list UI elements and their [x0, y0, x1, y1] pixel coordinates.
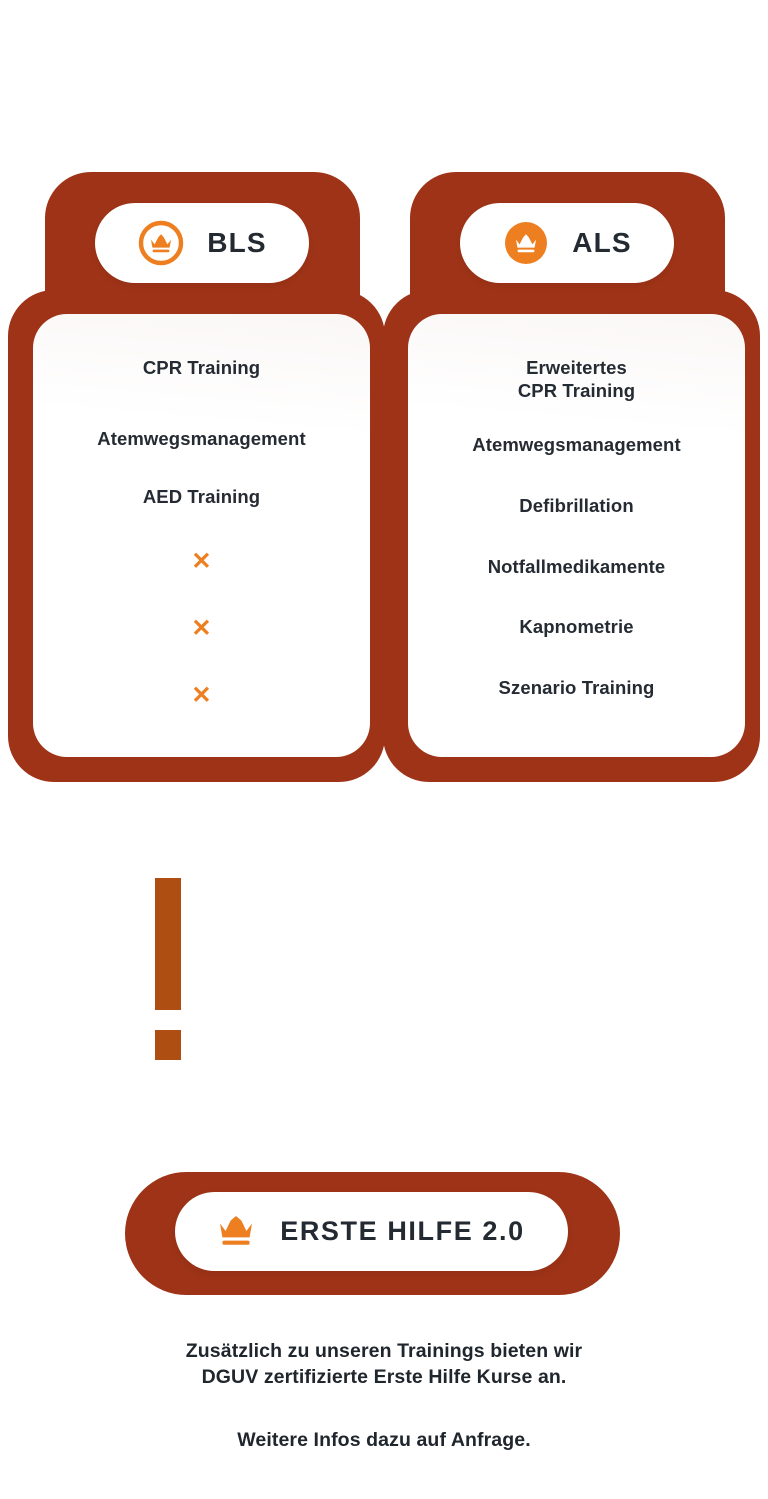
plan-tab-als[interactable]: ALS: [460, 203, 674, 283]
feature-item: ErweitertesCPR Training: [424, 356, 729, 402]
crown-icon: [218, 1215, 254, 1249]
crown-circle-filled-icon: [502, 219, 550, 267]
feature-item: Atemwegsmanagement: [424, 433, 729, 457]
erste-hilfe-button[interactable]: ERSTE HILFE 2.0: [175, 1192, 568, 1271]
footnote-primary: Zusätzlich zu unseren Trainings bieten w…: [0, 1338, 768, 1391]
feature-item: Kapnometrie: [424, 615, 729, 639]
crown-circle-outline-icon: [137, 219, 185, 267]
feature-unavailable-icon: ✕: [49, 547, 354, 578]
plan-comparison: BLS CPR Training Atemwegsmanagement AED …: [0, 0, 768, 800]
footnotes: Zusätzlich zu unseren Trainings bieten w…: [0, 1338, 768, 1452]
page-root: BLS CPR Training Atemwegsmanagement AED …: [0, 0, 768, 1499]
plan-features-bls: CPR Training Atemwegsmanagement AED Trai…: [33, 314, 370, 757]
erste-hilfe-button-label: ERSTE HILFE 2.0: [280, 1216, 525, 1247]
feature-unavailable-icon: ✕: [49, 681, 354, 712]
exclamation-bar: [155, 878, 181, 1010]
feature-unavailable-icon: ✕: [49, 614, 354, 645]
plan-tab-label-bls: BLS: [207, 227, 267, 259]
plan-tab-bls[interactable]: BLS: [95, 203, 309, 283]
plan-features-als: ErweitertesCPR Training Atemwegsmanageme…: [408, 314, 745, 757]
exclamation-dot: [155, 1030, 181, 1060]
feature-item: Szenario Training: [424, 676, 729, 700]
feature-item: Notfallmedikamente: [424, 555, 729, 579]
feature-item: Atemwegsmanagement: [49, 427, 354, 451]
footnote-secondary: Weitere Infos dazu auf Anfrage.: [0, 1429, 768, 1452]
plan-card-bls[interactable]: BLS CPR Training Atemwegsmanagement AED …: [0, 0, 392, 800]
feature-item: CPR Training: [49, 356, 354, 380]
feature-item: Defibrillation: [424, 494, 729, 518]
exclamation-mark-icon: [155, 878, 181, 1060]
feature-item: AED Training: [49, 485, 354, 509]
plan-tab-label-als: ALS: [572, 227, 632, 259]
plan-card-als[interactable]: ALS ErweitertesCPR Training Atemwegsmana…: [376, 0, 768, 800]
